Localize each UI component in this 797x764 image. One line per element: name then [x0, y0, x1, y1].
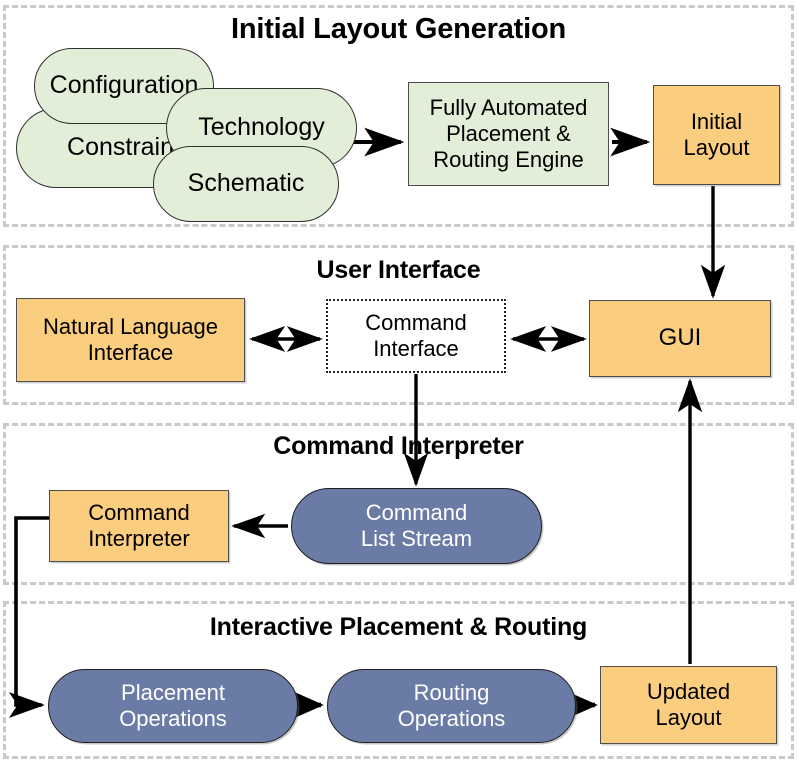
diagram-canvas: Initial Layout Generation User Interface… — [0, 0, 797, 764]
node-routing-operations[interactable]: Routing Operations — [327, 669, 576, 743]
node-configuration-label: Configuration — [50, 71, 199, 101]
node-command-interface-label: Command Interface — [365, 310, 466, 362]
node-command-list-stream[interactable]: Command List Stream — [291, 488, 542, 564]
node-technology-label: Technology — [198, 113, 324, 143]
section-title-command-interpreter: Command Interpreter — [0, 432, 797, 461]
node-schematic-label: Schematic — [188, 169, 305, 199]
node-placement-operations[interactable]: Placement Operations — [48, 669, 298, 743]
node-natural-language-interface-label: Natural Language Interface — [43, 314, 218, 366]
node-fully-automated-placement-routing-engine[interactable]: Fully Automated Placement & Routing Engi… — [408, 82, 609, 186]
node-initial-layout-label: Initial Layout — [683, 109, 749, 161]
node-natural-language-interface[interactable]: Natural Language Interface — [16, 298, 245, 382]
node-updated-layout-label: Updated Layout — [647, 679, 730, 731]
node-gui[interactable]: GUI — [589, 300, 771, 377]
node-command-interpreter-label: Command Interpreter — [88, 500, 190, 552]
section-title-interactive-placement-routing: Interactive Placement & Routing — [0, 613, 797, 642]
node-updated-layout[interactable]: Updated Layout — [600, 666, 777, 744]
node-command-interpreter[interactable]: Command Interpreter — [49, 490, 229, 562]
node-engine-label: Fully Automated Placement & Routing Engi… — [430, 95, 588, 173]
node-routing-operations-label: Routing Operations — [398, 680, 506, 732]
node-command-list-stream-label: Command List Stream — [361, 500, 472, 552]
section-title-initial-layout-generation: Initial Layout Generation — [0, 13, 797, 46]
node-gui-label: GUI — [659, 324, 702, 352]
node-initial-layout[interactable]: Initial Layout — [653, 85, 780, 185]
node-placement-operations-label: Placement Operations — [119, 680, 227, 732]
node-schematic[interactable]: Schematic — [153, 146, 339, 222]
node-command-interface[interactable]: Command Interface — [326, 299, 506, 373]
section-title-user-interface: User Interface — [0, 256, 797, 285]
